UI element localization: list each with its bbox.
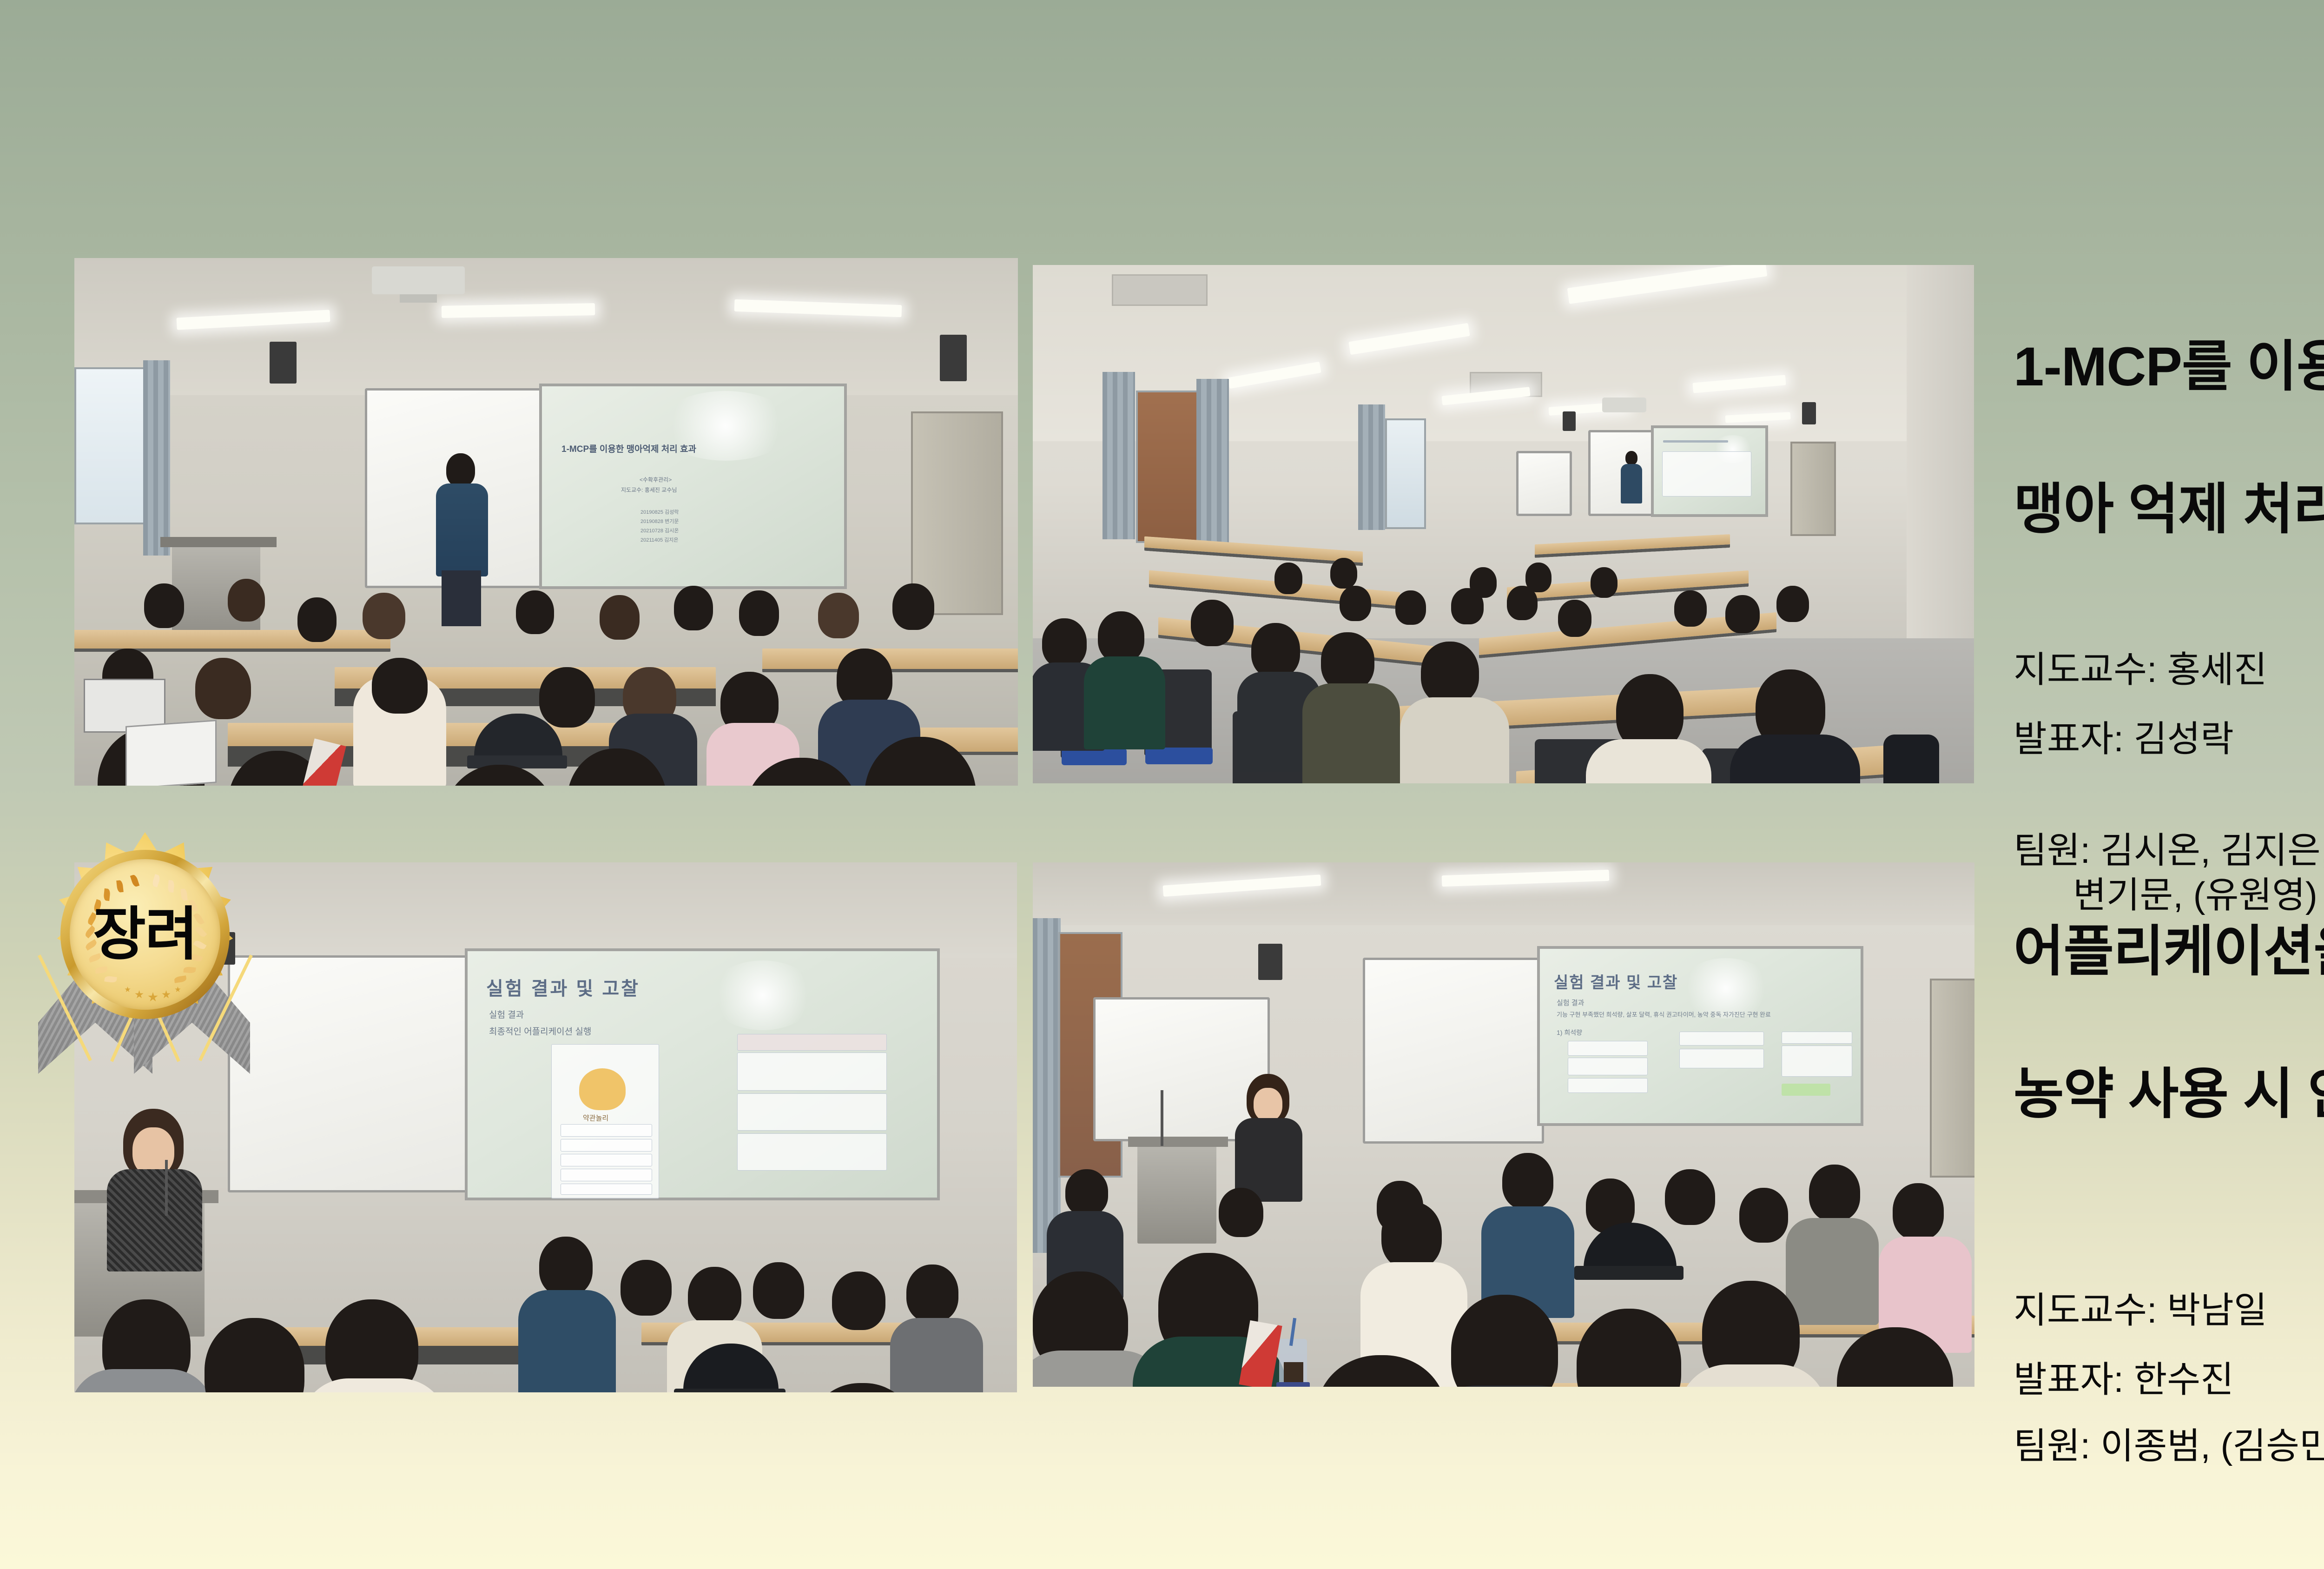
- slide-subtitle-2: 지도교수: 홍세진 교수님: [621, 486, 677, 494]
- photo-audience-with-screen: 실험 결과 및 고찰 실험 결과 기능 구현 부족했던 희석량, 살포 달력, …: [1033, 862, 1974, 1387]
- entry-2-members: 팀원: 이종범, (김승민, 장민영): [2014, 1424, 2324, 1468]
- entry-2-title: 어플리케이션을 활용한 농약 사용 시 안전 도우미: [2014, 845, 2324, 1202]
- entry-2-presenter: 발표자: 한수진: [2014, 1357, 2324, 1402]
- award-label: 장려: [93, 906, 197, 963]
- entry-1-title: 1-MCP를 이용한 맹아 억제 처리 효과.: [2014, 260, 2324, 617]
- slide-bullet-3: 실험 결과: [1557, 998, 1584, 1007]
- slide-title-text-3: 실험 결과 및 고찰: [1554, 970, 1678, 993]
- photo-classroom-wide-rear: [1033, 265, 1974, 783]
- award-badge: 장려: [43, 832, 247, 1083]
- medal-face: 장려: [70, 859, 220, 1010]
- slide-member-4: 20211405 김지은: [640, 536, 679, 543]
- backpack-icon: [1883, 735, 1939, 783]
- slide-canvas: 1-MCP를 이용한 맹아억제 처리 효과 <수확후관리> 지도교수: 홍세진 …: [0, 0, 2324, 1569]
- entry-1-presenter: 발표자: 김성락: [2014, 717, 2324, 761]
- slide-title-text-2: 실험 결과 및 고찰: [486, 973, 640, 1000]
- slide-title-text: 1-MCP를 이용한 맹아억제 처리 효과: [561, 442, 696, 455]
- slide-bullet-4: 기능 구현 부족했던 희석량, 살포 달력, 휴식 권고타이머, 농약 중독 자…: [1557, 1010, 1771, 1019]
- entry-2-title-line2: 농약 사용 시 안전 도우미: [2014, 1059, 2324, 1130]
- entry-1-title-line2: 맹아 억제 처리 효과.: [2014, 474, 2324, 545]
- slide-app-name: 약관놀리: [583, 1113, 608, 1123]
- slide-sub-label: 1) 희석량: [1557, 1028, 1582, 1037]
- projection-screen-2: 실험 결과 및 고찰 실험 결과 최종적인 어플리케이션 실행 약관놀리: [465, 948, 940, 1200]
- slide-member-2: 20190828 변기문: [640, 517, 679, 525]
- entry-2-text-block: 어플리케이션을 활용한 농약 사용 시 안전 도우미 지도교수: 박남일 발표자…: [2014, 845, 2324, 1468]
- slide-member-3: 20210728 김시온: [640, 527, 679, 534]
- entry-2-title-line1: 어플리케이션을 활용한: [2014, 916, 2324, 987]
- photo-classroom-front-view: 1-MCP를 이용한 맹아억제 처리 효과 <수확후관리> 지도교수: 홍세진 …: [74, 258, 1018, 786]
- entry-2-advisor: 지도교수: 박남일: [2014, 1288, 2324, 1332]
- projector-icon: [372, 266, 465, 294]
- projection-screen: 1-MCP를 이용한 맹아억제 처리 효과 <수확후관리> 지도교수: 홍세진 …: [539, 384, 847, 589]
- slide-bullet-1: 실험 결과: [489, 1008, 524, 1020]
- entry-1-title-line1: 1-MCP를 이용한: [2014, 331, 2324, 403]
- slide-member-1: 20190825 김성락: [640, 508, 679, 516]
- entry-1-advisor: 지도교수: 홍세진: [2014, 648, 2324, 692]
- slide-subtitle-1: <수확후관리>: [640, 476, 672, 483]
- slide-bullet-2: 최종적인 어플리케이션 실행: [489, 1025, 591, 1037]
- projection-screen-3: 실험 결과 및 고찰 실험 결과 기능 구현 부족했던 희석량, 살포 달력, …: [1537, 946, 1863, 1126]
